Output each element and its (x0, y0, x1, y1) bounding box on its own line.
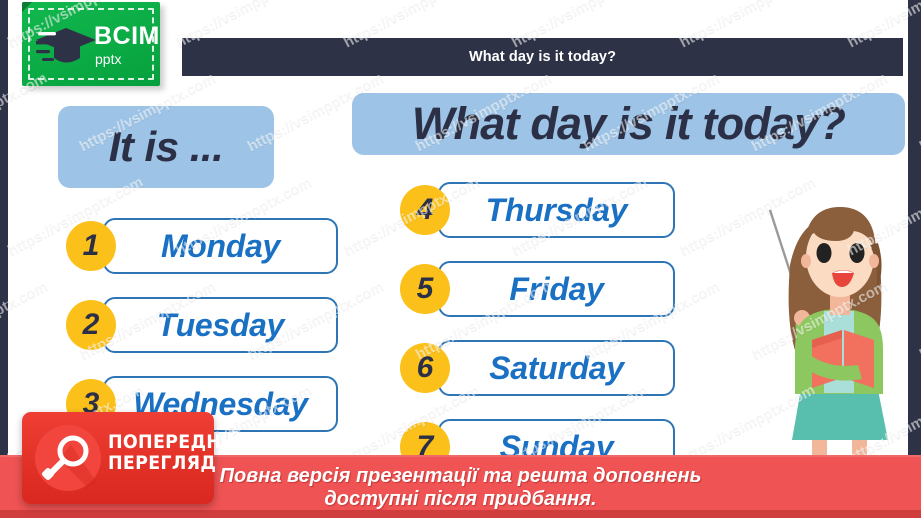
graduation-cap-icon (36, 26, 98, 70)
bcim-pptx-logo: BCIM pptx (22, 2, 160, 86)
it-is-label: It is ... (109, 123, 224, 171)
logo-box: BCIM pptx (22, 2, 160, 86)
day-number: 5 (417, 274, 434, 304)
preview-badge: ПОПЕРЕДНІЙ ПЕРЕГЛЯД (22, 412, 214, 504)
day-number-badge: 1 (66, 221, 116, 271)
logo-primary-text: BCIM (94, 24, 160, 49)
magnifier-icon (35, 425, 101, 491)
day-number-badge: 6 (400, 343, 450, 393)
main-title-box: What day is it today? (352, 93, 905, 155)
day-pill[interactable]: Tuesday (103, 297, 338, 353)
day-pill[interactable]: Friday (438, 261, 675, 317)
logo-wordmark: BCIM pptx (94, 24, 160, 66)
day-pill[interactable]: Saturday (438, 340, 675, 396)
badge-line-2: ПЕРЕГЛЯД (108, 453, 243, 474)
banner-line-1: Повна версія презентації та решта доповн… (220, 465, 702, 487)
logo-secondary-text: pptx (95, 52, 160, 66)
banner-line-2: доступні після придбання. (324, 488, 596, 510)
watermark-text: https://vsimpptx.com (917, 70, 921, 156)
day-number: 4 (417, 195, 434, 225)
day-pill[interactable]: Monday (103, 218, 338, 274)
day-label: Saturday (489, 350, 624, 387)
day-row[interactable]: Friday 5 (400, 261, 675, 317)
day-pill[interactable]: Thursday (438, 182, 675, 238)
header-title: What day is it today? (469, 49, 616, 65)
badge-text: ПОПЕРЕДНІЙ ПЕРЕГЛЯД (108, 432, 255, 473)
day-label: Monday (161, 228, 280, 265)
day-number-badge: 4 (400, 185, 450, 235)
slide-preview-window: What day is it today? It is ... What day… (0, 0, 921, 518)
day-row[interactable]: Thursday 4 (400, 182, 675, 238)
day-row[interactable]: Monday 1 (66, 218, 338, 274)
day-number: 2 (83, 310, 100, 340)
day-label: Tuesday (157, 307, 284, 344)
watermark-text: https://vsimpptx.com (917, 278, 921, 364)
day-label: Friday (509, 271, 603, 308)
it-is-box: It is ... (58, 106, 274, 188)
day-row[interactable]: Tuesday 2 (66, 297, 338, 353)
banner-bottom-strip (0, 510, 921, 518)
main-title: What day is it today? (412, 98, 845, 150)
day-number-badge: 2 (66, 300, 116, 350)
day-number: 1 (83, 231, 100, 261)
day-number-badge: 5 (400, 264, 450, 314)
header-bar: What day is it today? (182, 38, 903, 76)
day-number: 6 (417, 353, 434, 383)
day-row[interactable]: Saturday 6 (400, 340, 675, 396)
badge-line-1: ПОПЕРЕДНІЙ (108, 432, 243, 453)
day-label: Thursday (486, 192, 628, 229)
